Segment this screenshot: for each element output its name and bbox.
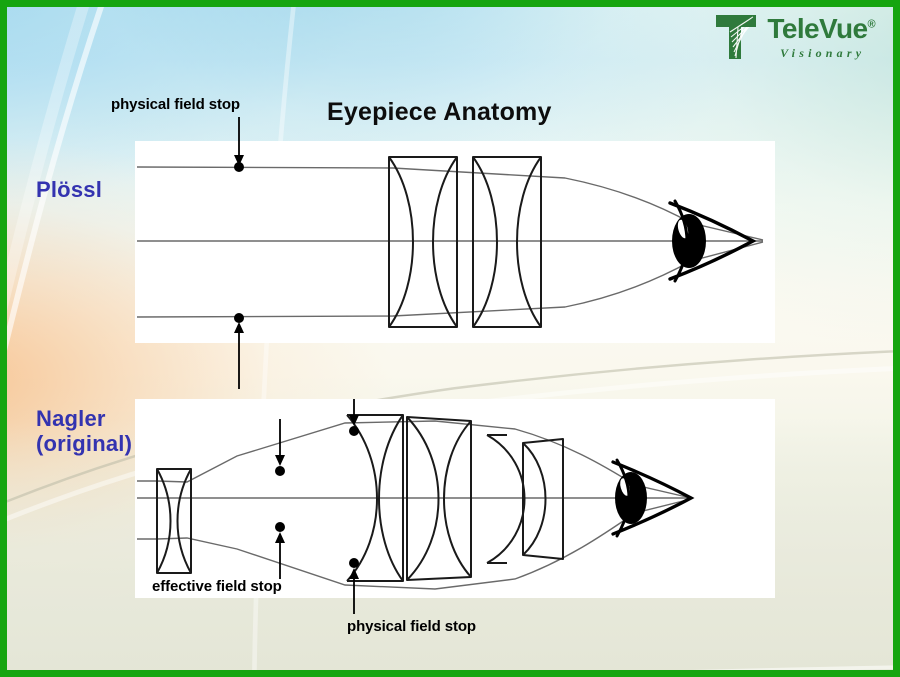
nagler-smyth-negative-lens <box>157 469 191 573</box>
plossl-lens-group-field <box>389 157 457 327</box>
callout-physical-field-stop-bottom: physical field stop <box>347 618 476 635</box>
slide-canvas: TeleVue® Visionary Eyepiece Anatomy Plös… <box>0 0 900 677</box>
callout-effective-field-stop: effective field stop <box>152 578 282 595</box>
nagler-ray-diagram <box>135 399 775 598</box>
brand-name: TeleVue® <box>767 15 875 43</box>
televue-logo: TeleVue® Visionary <box>715 13 875 61</box>
design-label-nagler: Nagler (original) <box>36 407 132 456</box>
plossl-ray-diagram <box>135 141 775 343</box>
televue-wordmark: TeleVue® Visionary <box>767 15 875 59</box>
brand-tagline: Visionary <box>767 47 875 59</box>
design-label-plossl: Plössl <box>36 178 102 203</box>
nagler-eye-lens <box>487 435 563 563</box>
callout-physical-field-stop-top: physical field stop <box>111 96 240 113</box>
plossl-rays <box>137 167 763 317</box>
nagler-rays <box>137 421 691 589</box>
plossl-lens-group-eye <box>473 157 541 327</box>
registered-mark: ® <box>867 19 875 31</box>
diagram-panel-nagler <box>135 399 775 598</box>
brand-name-text: TeleVue <box>767 13 867 44</box>
diagram-panel-plossl <box>135 141 775 343</box>
televue-t-logo-icon <box>715 13 757 61</box>
design-label-nagler-line2: (original) <box>36 432 132 457</box>
page-title: Eyepiece Anatomy <box>327 98 552 127</box>
design-label-nagler-line1: Nagler <box>36 407 132 432</box>
